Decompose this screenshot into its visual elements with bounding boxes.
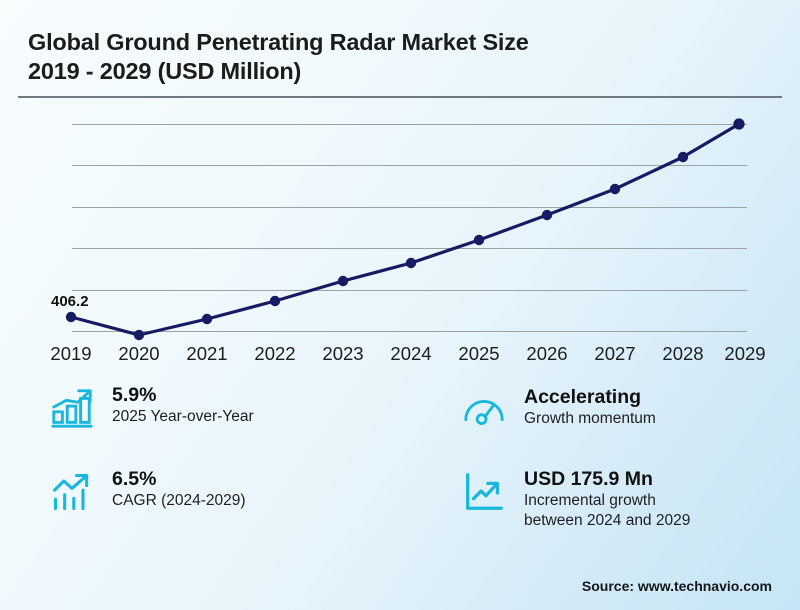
infographic-page: Global Ground Penetrating Radar Market S… (0, 0, 800, 610)
data-point (610, 184, 620, 194)
series-line (71, 124, 739, 335)
x-tick-2029: 2029 (705, 343, 785, 365)
stat-incremental-label-2: between 2024 and 2029 (524, 511, 690, 531)
stat-momentum-text: Accelerating Growth momentum (524, 384, 656, 429)
stat-momentum-value: Accelerating (524, 385, 656, 409)
stat-yoy-label: 2025 Year-over-Year (112, 407, 254, 427)
data-point (733, 118, 744, 129)
line-chart: 406.2 (0, 108, 800, 353)
data-point (134, 330, 144, 340)
stat-cagr-text: 6.5% CAGR (2024-2029) (112, 466, 246, 511)
stat-incremental: USD 175.9 Mn Incremental growth between … (458, 466, 690, 531)
stat-yoy-value: 5.9% (112, 383, 254, 407)
page-title: Global Ground Penetrating Radar Market S… (28, 28, 728, 86)
stat-incremental-label-1: Incremental growth (524, 491, 690, 511)
page-title-line-1: Global Ground Penetrating Radar Market S… (28, 28, 728, 57)
stat-yoy: 5.9% 2025 Year-over-Year (46, 382, 254, 434)
stat-momentum: Accelerating Growth momentum (458, 384, 656, 436)
stat-momentum-label: Growth momentum (524, 409, 656, 429)
stat-cagr-value: 6.5% (112, 467, 246, 491)
bar-chart-arrow-icon (46, 466, 98, 518)
x-axis-labels: 2019 2020 2021 2022 2023 2024 2025 2026 … (0, 343, 800, 373)
data-point (270, 296, 280, 306)
data-point-label-2019: 406.2 (51, 293, 89, 310)
stat-incremental-value: USD 175.9 Mn (524, 467, 690, 491)
line-chart-axis-arrow-icon (458, 466, 510, 518)
stat-cagr-label: CAGR (2024-2029) (112, 491, 246, 511)
source-attribution: Source: www.technavio.com (582, 578, 772, 594)
chart-series-svg (0, 108, 800, 353)
data-point (474, 235, 484, 245)
data-point (542, 210, 552, 220)
data-point (202, 314, 212, 324)
data-point (406, 258, 416, 268)
data-point (678, 152, 688, 162)
stats-section: 5.9% 2025 Year-over-Year 6.5% CAGR (2024… (0, 382, 800, 562)
stat-yoy-text: 5.9% 2025 Year-over-Year (112, 382, 254, 427)
header-divider (18, 96, 782, 98)
stat-cagr: 6.5% CAGR (2024-2029) (46, 466, 246, 518)
page-title-line-2: 2019 - 2029 (USD Million) (28, 57, 728, 86)
data-point (338, 276, 348, 286)
data-point (66, 312, 76, 322)
bar-chart-growth-icon (46, 382, 98, 434)
speedometer-icon (458, 384, 510, 436)
stat-incremental-text: USD 175.9 Mn Incremental growth between … (524, 466, 690, 531)
